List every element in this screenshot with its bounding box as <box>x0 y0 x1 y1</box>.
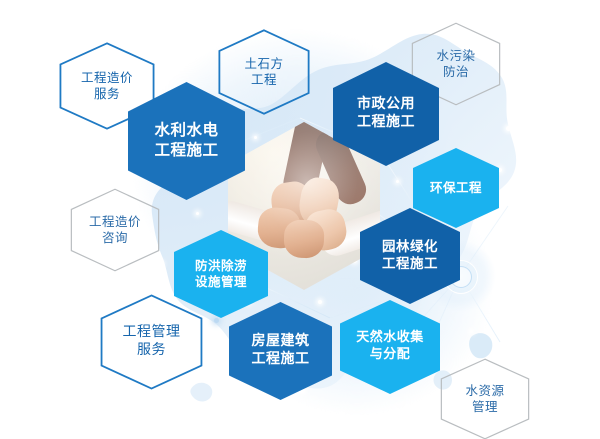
hexagon-label: 工程造价 咨询 <box>89 214 141 246</box>
hexagon-landscaping-engineering-construction[interactable]: 园林绿化 工程施工 <box>360 208 460 304</box>
hexagon-label: 园林绿化 工程施工 <box>382 239 438 274</box>
hexagon-engineering-management-service[interactable]: 工程管理 服务 <box>100 294 203 390</box>
particle-dot <box>214 318 219 323</box>
hexagon-water-conservancy-hydropower-construction[interactable]: 水利水电 工程施工 <box>128 82 245 200</box>
hexagon-label: 房屋建筑 工程施工 <box>252 333 310 369</box>
particle-dot <box>268 412 271 415</box>
hexagon-label: 水资源 管理 <box>465 383 504 415</box>
hexagon-building-construction-engineering[interactable]: 房屋建筑 工程施工 <box>229 302 332 400</box>
particle-dot <box>196 212 199 215</box>
hexagon-label: 防洪除涝 设施管理 <box>195 258 247 290</box>
hexagon-engineering-cost-consulting[interactable]: 工程造价 咨询 <box>70 188 160 272</box>
hexagon-label: 水利水电 工程施工 <box>154 121 218 161</box>
particle-dot <box>396 180 399 183</box>
hexagon-water-resource-management[interactable]: 水资源 管理 <box>440 358 530 439</box>
hexagon-label: 天然水收集 与分配 <box>356 330 424 363</box>
hexagon-natural-water-collection-distribution[interactable]: 天然水收集 与分配 <box>340 300 440 394</box>
map-island-taiwan <box>469 333 492 358</box>
particle-dot <box>254 136 257 139</box>
hexagon-label: 水污染 防治 <box>436 48 475 80</box>
infographic-canvas: 工程造价 服务土石方 工程水污染 防治水利水电 工程施工市政公用 工程施工环保工… <box>0 0 600 439</box>
hexagon-label: 工程造价 服务 <box>81 70 133 102</box>
particle-dot <box>340 412 344 416</box>
particle-dot <box>160 262 163 265</box>
particle-dot <box>504 300 508 304</box>
hexagon-label: 土石方 工程 <box>244 56 283 88</box>
hexagon-label: 工程管理 服务 <box>123 324 181 360</box>
particle-dot <box>470 330 473 333</box>
hexagon-label: 环保工程 <box>430 180 482 196</box>
particle-dot <box>486 246 491 251</box>
particle-dot <box>506 126 511 131</box>
hexagon-label: 市政公用 工程施工 <box>357 96 415 132</box>
